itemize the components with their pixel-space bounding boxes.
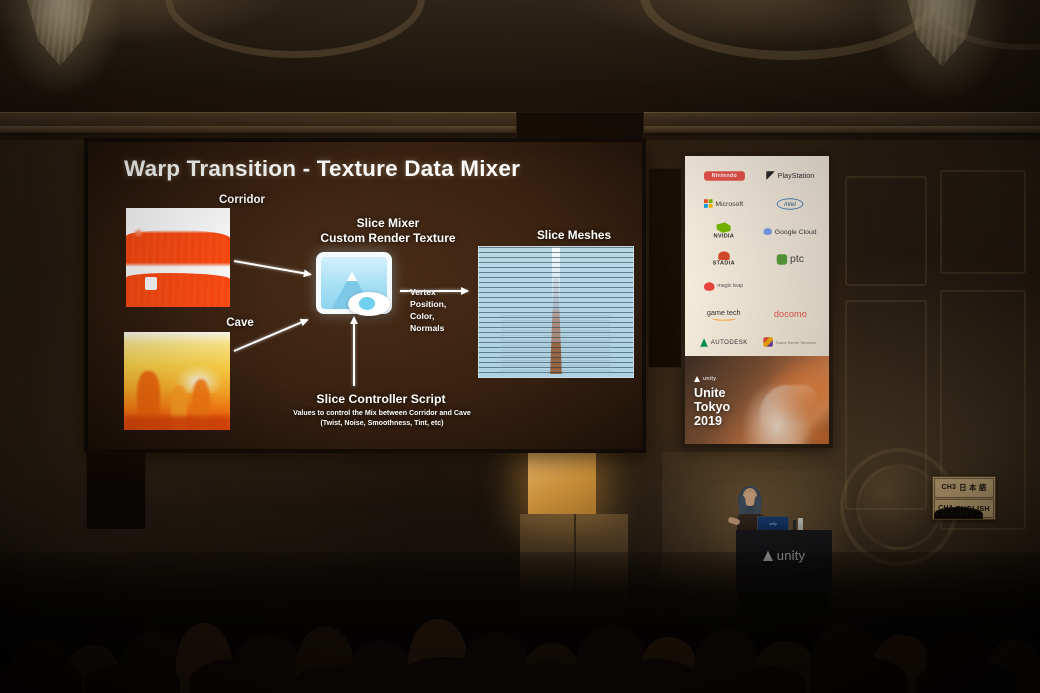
projection-screen: Warp Transition - Texture Data Mixer Cor…: [84, 138, 646, 453]
channel-sign: CHANNEL CH3 日 本 語 CH4 ENGLISH: [932, 476, 996, 520]
sponsor-game-tech: game tech: [707, 308, 741, 320]
corridor-texture-swatch: [126, 208, 230, 307]
cave-texture-swatch: [124, 332, 230, 430]
slice-mixer-label: Slice Mixer Custom Render Texture: [288, 216, 488, 247]
sponsor-label: magic leap: [718, 284, 744, 290]
sponsor-autodesk: AUTODESK: [700, 338, 748, 347]
slide-title: Warp Transition - Texture Data Mixer: [124, 156, 520, 182]
sponsor-ptc: ptc: [776, 253, 803, 264]
sponsor-label: NVIDIA: [714, 234, 734, 240]
unity-brand-lockup: unity: [694, 376, 730, 382]
sponsor-nintendo: Nintendo: [704, 171, 745, 181]
ceiling: [0, 0, 1040, 118]
event-name: Unite Tokyo 2019: [694, 386, 730, 428]
corridor-label: Corridor: [182, 194, 302, 206]
sponsor-microsoft: Microsoft: [704, 199, 743, 208]
nvidia-logo-icon: [717, 223, 731, 233]
script-desc-line-2: (Twist, Noise, Smoothness, Tint, etc): [234, 418, 530, 428]
sponsor-label: Microsoft: [716, 199, 744, 208]
event-year: 2019: [694, 414, 730, 428]
intel-logo-icon: intel: [777, 198, 804, 209]
nintendo-logo-icon: Nintendo: [704, 171, 745, 181]
chandelier: [18, 0, 102, 82]
autodesk-logo-icon: [700, 338, 708, 347]
unite-event-block: unity Unite Tokyo 2019: [694, 376, 730, 428]
sponsor-label: STADIA: [713, 261, 735, 267]
sponsor-stadia: STADIA: [713, 251, 735, 266]
sponsor-label: Google Cloud: [775, 227, 817, 236]
channel-sign-row: CH3 日 本 語: [934, 478, 994, 498]
stadia-logo-icon: [718, 251, 729, 260]
playstation-logo-icon: [766, 172, 775, 181]
event-name-line-1: Unite: [694, 386, 730, 400]
wall-panel: [940, 170, 1026, 274]
sponsor-google-cloud: Google Cloud: [763, 227, 816, 236]
sponsor-banner: Nintendo PlayStation Microsoft intel NVI…: [681, 152, 833, 448]
conference-hall-scene: CHANNEL CH3 日 本 語 CH4 ENGLISH Warp Trans…: [0, 0, 1040, 693]
channel-sign-heading: CHANNEL: [934, 507, 983, 519]
slice-meshes-label: Slice Meshes: [488, 228, 642, 242]
slice-meshes-preview: [478, 246, 634, 378]
docomo-logo-icon: docomo: [773, 309, 806, 319]
game-server-services-logo-icon: [764, 337, 774, 347]
magic-leap-logo-icon: [704, 282, 714, 291]
sponsor-label: PlayStation: [777, 172, 814, 181]
chandelier: [895, 0, 989, 84]
microsoft-logo-icon: [704, 199, 713, 208]
sponsor-label: AUTODESK: [711, 339, 748, 346]
channel-number: CH3: [942, 484, 957, 491]
amazon-smile-icon: [712, 316, 737, 321]
event-name-line-2: Tokyo: [694, 400, 730, 414]
presentation-slide: Warp Transition - Texture Data Mixer Cor…: [88, 142, 642, 449]
sponsor-label: Game Server Services: [776, 340, 816, 345]
sponsor-magic-leap: magic leap: [704, 282, 743, 291]
slice-mixer-title: Slice Mixer: [288, 216, 488, 231]
cave-label: Cave: [180, 317, 300, 329]
channel-language: 日 本 語: [959, 482, 986, 493]
unity-wordmark: unity: [703, 376, 716, 382]
sponsor-logo-grid: Nintendo PlayStation Microsoft intel NVI…: [685, 160, 829, 358]
sponsor-intel: intel: [777, 198, 804, 209]
audience: [0, 552, 1040, 693]
google-cloud-logo-icon: [763, 228, 772, 235]
ptc-logo-icon: [776, 254, 786, 264]
wall-panel: [845, 176, 927, 286]
sponsor-playstation: PlayStation: [766, 172, 814, 181]
vertex-data-label: VertexPosition,Color,Normals: [410, 287, 472, 334]
laptop-screen-label: unity: [758, 522, 788, 526]
corridor-to-mixer-arrow: [234, 260, 311, 276]
sponsor-label: ptc: [790, 253, 804, 264]
ceiling-medallion: [165, 0, 425, 58]
sponsor-nvidia: NVIDIA: [714, 223, 734, 240]
slice-controller-script-description: Values to control the Mix between Corrid…: [234, 408, 530, 428]
script-to-mixer-arrow: [353, 324, 355, 386]
slice-mixer-subtitle: Custom Render Texture: [288, 231, 488, 246]
sponsor-docomo: docomo: [773, 309, 806, 319]
stage-light-panel: [528, 452, 596, 514]
script-desc-line-1: Values to control the Mix between Corrid…: [234, 408, 530, 418]
slice-controller-script-title: Slice Controller Script: [256, 392, 506, 406]
custom-render-texture-icon: [316, 252, 392, 314]
unity-logo-icon: [694, 376, 700, 382]
sponsor-game-server-services: Game Server Services: [764, 337, 816, 347]
